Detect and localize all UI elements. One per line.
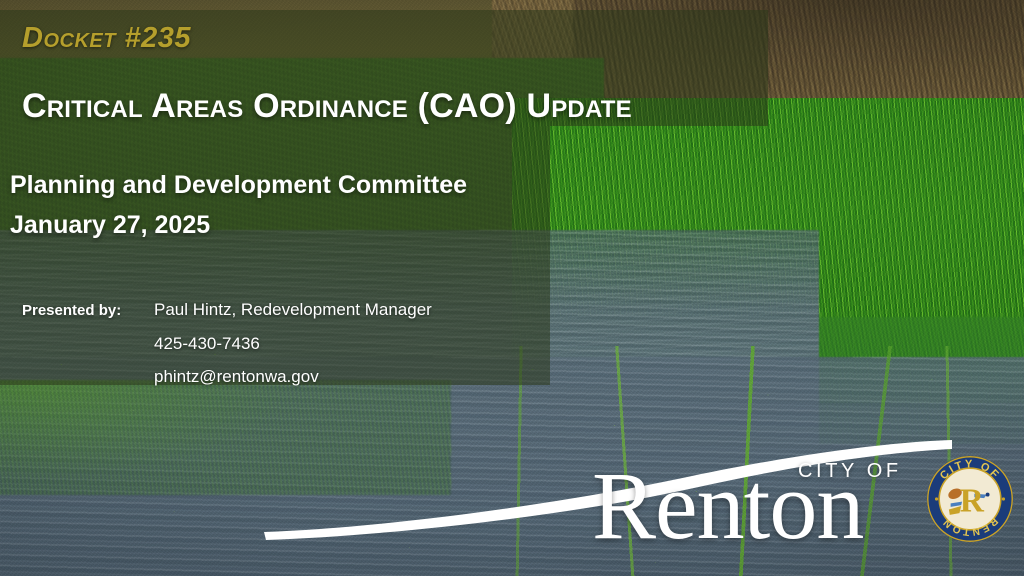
presenter-name-row: Presented by: Paul Hintz, Redevelopment … bbox=[22, 293, 432, 327]
city-of-renton-logo: CITY OF Renton CITY OF RENTON bbox=[262, 424, 1022, 574]
presenter-block: Presented by: Paul Hintz, Redevelopment … bbox=[22, 293, 432, 393]
presentation-slide: Docket #235 Critical Areas Ordinance (CA… bbox=[0, 0, 1024, 576]
logo-renton-wordmark: Renton bbox=[592, 458, 863, 554]
presenter-phone-row: 425-430-7436 bbox=[22, 327, 432, 360]
presenter-name: Paul Hintz, Redevelopment Manager bbox=[154, 293, 432, 326]
presenter-phone: 425-430-7436 bbox=[154, 327, 260, 360]
committee-name: Planning and Development Committee bbox=[10, 165, 467, 205]
docket-number-eyebrow: Docket #235 bbox=[22, 22, 191, 55]
meeting-date: January 27, 2025 bbox=[10, 205, 467, 245]
slide-title: Critical Areas Ordinance (CAO) Update bbox=[22, 87, 632, 126]
presenter-email: phintz@rentonwa.gov bbox=[154, 360, 319, 393]
presented-by-label: Presented by: bbox=[22, 294, 154, 327]
renton-city-seal-icon: CITY OF RENTON R bbox=[926, 455, 1014, 543]
presenter-email-row: phintz@rentonwa.gov bbox=[22, 360, 432, 393]
seal-monogram: R bbox=[960, 482, 985, 519]
subtitle-block: Planning and Development Committee Janua… bbox=[10, 165, 467, 245]
